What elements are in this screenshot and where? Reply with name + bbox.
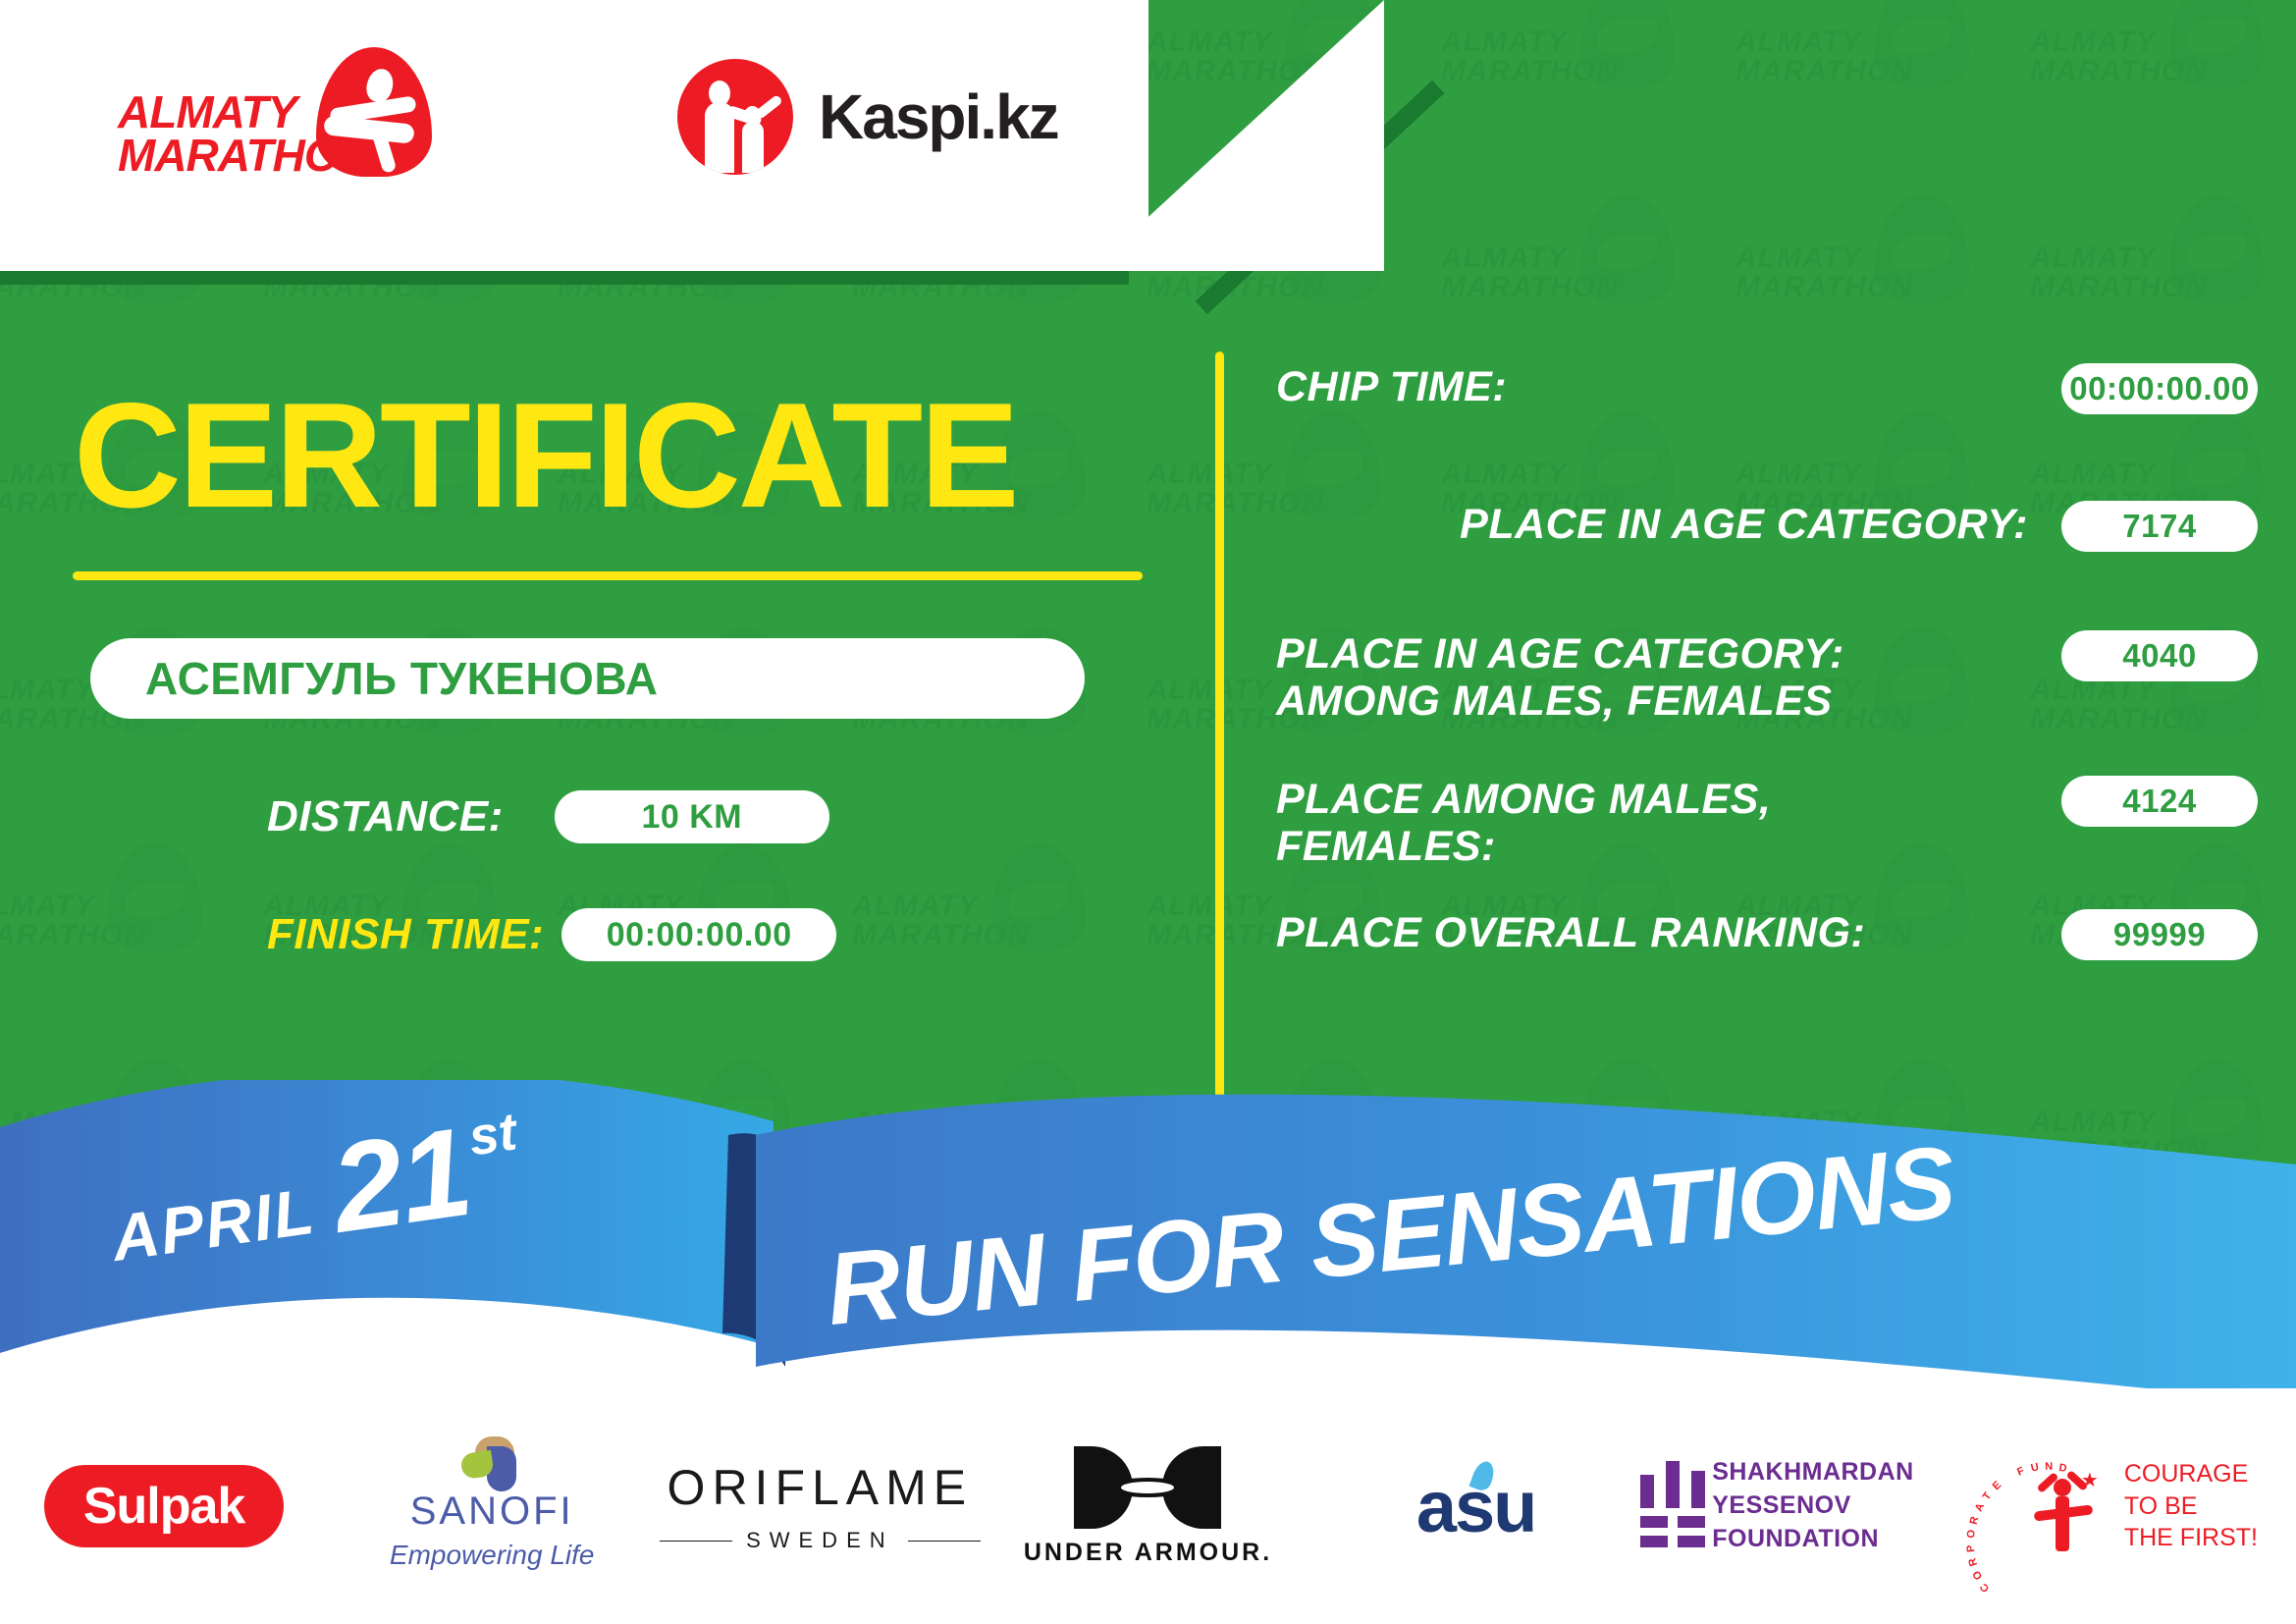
courage-figure-icon: CORPORATE FUND ★ xyxy=(2006,1453,2109,1559)
finish-time-label: FINISH TIME: xyxy=(267,910,544,959)
sponsor-sanofi: SANOFI Empowering Life xyxy=(328,1428,656,1585)
almaty-line: ALMATY xyxy=(118,90,310,134)
certificate-title: CERTIFICATE xyxy=(74,381,1017,530)
courage-head xyxy=(2054,1479,2071,1496)
sponsor-asu: asu xyxy=(1312,1428,1640,1585)
under-armour-wordmark: UNDER ARMOUR. xyxy=(1024,1539,1272,1567)
kaspi-adult-body xyxy=(705,102,734,173)
sponsor-under-armour: UNDER ARMOUR. xyxy=(984,1428,1311,1585)
watermark-tile: ALMATYMARATHON xyxy=(2022,1041,2296,1188)
place-among-gender-label: PLACE AMONG MALES, FEMALES: xyxy=(1276,776,2028,870)
sanofi-mark-icon xyxy=(457,1436,526,1491)
label-line-1: PLACE AMONG MALES, xyxy=(1276,776,2028,823)
arc-letter: C xyxy=(1978,1581,1992,1595)
watermark-line-2: MARATHON xyxy=(2030,1135,2208,1168)
courage-arc-text: CORPORATE FUND xyxy=(2006,1461,2089,1543)
sponsor-sulpak: Sulpak xyxy=(0,1428,328,1585)
kaspi-logo: Kaspi.kz xyxy=(677,59,1058,175)
ym-bar-5 xyxy=(1678,1516,1705,1528)
courage-logo: CORPORATE FUND ★ COURAGE TO BE THE FIRST… xyxy=(2006,1453,2258,1559)
courage-wordmark: COURAGE TO BE THE FIRST! xyxy=(2124,1458,2258,1554)
place-age-category-label: PLACE IN AGE CATEGORY: xyxy=(1276,501,2028,548)
watermark-tile: ALMATYMARATHON xyxy=(1728,177,2022,393)
ym-bar-3 xyxy=(1691,1471,1705,1508)
almaty-marathon-logo: ALMATY MARATHON xyxy=(118,47,432,194)
sanofi-wordmark: SANOFI xyxy=(390,1489,595,1534)
sponsor-yessenov: SHAKHMARDAN YESSENOV FOUNDATION xyxy=(1640,1428,1968,1585)
arc-letter: O xyxy=(1965,1530,1978,1539)
participant-name-field: АСЕМГУЛЬ ТУКЕНОВА xyxy=(90,638,1085,719)
courage-line-1: COURAGE xyxy=(2124,1458,2258,1490)
yessenov-logo: SHAKHMARDAN YESSENOV FOUNDATION xyxy=(1640,1456,1968,1555)
distance-row: DISTANCE: 10 KM xyxy=(267,790,829,843)
ym-bar-6 xyxy=(1640,1536,1668,1547)
oriflame-logo: ORIFLAME SWEDEN xyxy=(660,1459,981,1553)
watermark-line-1: ALMATY xyxy=(1735,26,1862,59)
watermark-line-1: ALMATY xyxy=(1441,458,1568,491)
almaty-marathon-wordmark: ALMATY MARATHON xyxy=(118,90,310,177)
star-icon: ★ xyxy=(2081,1471,2099,1490)
sanofi-logo: SANOFI Empowering Life xyxy=(390,1442,595,1571)
oriflame-wordmark: ORIFLAME xyxy=(660,1459,981,1516)
place-among-gender-row: PLACE AMONG MALES, FEMALES: 4124 xyxy=(1276,776,2258,870)
yessenov-line-2: FOUNDATION xyxy=(1712,1523,1968,1556)
arc-letter: R xyxy=(1966,1556,1980,1567)
place-age-category-row: PLACE IN AGE CATEGORY: 7174 xyxy=(1276,501,2258,552)
distance-label: DISTANCE: xyxy=(267,792,504,841)
ym-bar-7 xyxy=(1678,1536,1705,1547)
place-overall-ranking-row: PLACE OVERALL RANKING: 99999 xyxy=(1276,909,2258,960)
label-line-1: PLACE IN AGE CATEGORY: xyxy=(1276,630,2028,677)
ym-bar-4 xyxy=(1640,1516,1668,1528)
sponsor-courage: CORPORATE FUND ★ COURAGE TO BE THE FIRST… xyxy=(1968,1428,2296,1585)
asu-logo: asu xyxy=(1416,1465,1536,1548)
marathon-line: MARATHON xyxy=(118,134,310,177)
kaspi-people-icon xyxy=(677,59,793,175)
watermark-tile: ALMATYMARATHON xyxy=(1433,0,1728,177)
watermark-line-1: ALMATY xyxy=(2030,458,2157,491)
kaspi-child-body xyxy=(742,122,764,173)
watermark-tile: ALMATYMARATHON xyxy=(1139,1041,1433,1188)
chip-time-value: 00:00:00.00 xyxy=(2061,363,2258,414)
arc-letter: P xyxy=(1965,1544,1978,1553)
participant-name-value: АСЕМГУЛЬ ТУКЕНОВА xyxy=(145,652,658,705)
certificate-page: ALMATYMARATHONALMATYMARATHONALMATYMARATH… xyxy=(0,0,2296,1624)
arc-letter: N xyxy=(2045,1461,2053,1473)
event-day-suffix: st xyxy=(465,1101,520,1167)
watermark-line-2: MARATHON xyxy=(2030,271,2208,304)
ua-center-hole xyxy=(1121,1482,1174,1493)
arc-letter: R xyxy=(1968,1515,1982,1526)
chip-time-label: CHIP TIME: xyxy=(1276,363,2028,410)
place-among-gender-value: 4124 xyxy=(2061,776,2258,827)
yessenov-wordmark: SHAKHMARDAN YESSENOV FOUNDATION xyxy=(1712,1456,1968,1555)
watermark-line-1: ALMATY xyxy=(1441,1106,1568,1139)
watermark-line-1: ALMATY xyxy=(1735,242,1862,275)
arc-letter: F xyxy=(2015,1465,2026,1479)
watermark-tile: ALMATYMARATHON xyxy=(2022,177,2296,393)
under-armour-icon xyxy=(1074,1446,1221,1529)
kaspi-wordmark: Kaspi.kz xyxy=(819,81,1058,153)
event-day: 21 xyxy=(326,1119,475,1244)
place-overall-ranking-value: 99999 xyxy=(2061,909,2258,960)
distance-value: 10 KM xyxy=(555,790,829,843)
courage-line-3: THE FIRST! xyxy=(2124,1522,2258,1554)
ym-bar-1 xyxy=(1640,1475,1654,1508)
watermark-line-1: ALMATY xyxy=(1147,458,1273,491)
watermark-line-1: ALMATY xyxy=(1441,26,1568,59)
sponsor-oriflame: ORIFLAME SWEDEN xyxy=(656,1428,984,1585)
watermark-line-2: MARATHON xyxy=(1441,271,1619,304)
watermark-line-2: MARATHON xyxy=(1147,1135,1324,1168)
arc-letter: T xyxy=(1980,1490,1994,1502)
label-line-2: AMONG MALES, FEMALES xyxy=(1276,677,2028,725)
arc-letter: A xyxy=(1973,1501,1987,1513)
yessenov-line-1: SHAKHMARDAN YESSENOV xyxy=(1712,1456,1968,1523)
watermark-line-2: MARATHON xyxy=(2030,55,2208,88)
arc-letter: O xyxy=(1970,1569,1985,1582)
sulpak-logo: Sulpak xyxy=(44,1465,285,1547)
watermark-line-2: MARATHON xyxy=(1735,271,1913,304)
oriflame-sub: SWEDEN xyxy=(660,1528,981,1553)
place-overall-ranking-label: PLACE OVERALL RANKING: xyxy=(1276,909,2028,956)
watermark-line-1: ALMATY xyxy=(1147,1106,1273,1139)
sponsor-bar: Sulpak SANOFI Empowering Life ORIFLAME S… xyxy=(0,1388,2296,1624)
place-age-category-value: 7174 xyxy=(2061,501,2258,552)
watermark-line-2: MARATHON xyxy=(1735,55,1913,88)
oriflame-sub-text: SWEDEN xyxy=(746,1528,894,1553)
watermark-line-2: MARATHON xyxy=(1441,55,1619,88)
watermark-line-1: ALMATY xyxy=(1147,890,1273,923)
event-month: APRIL xyxy=(107,1173,320,1275)
finish-time-value: 00:00:00.00 xyxy=(561,908,836,961)
sanofi-tagline: Empowering Life xyxy=(390,1540,595,1571)
watermark-line-1: ALMATY xyxy=(1441,242,1568,275)
watermark-line-1: ALMATY xyxy=(2030,242,2157,275)
watermark-line-1: ALMATY xyxy=(2030,26,2157,59)
chip-time-row: CHIP TIME: 00:00:00.00 xyxy=(1276,363,2258,414)
label-line-2: FEMALES: xyxy=(1276,823,2028,870)
arc-letter: E xyxy=(1991,1479,2004,1492)
watermark-tile: ALMATYMARATHON xyxy=(2022,0,2296,177)
place-age-category-gender-row: PLACE IN AGE CATEGORY: AMONG MALES, FEMA… xyxy=(1276,630,2258,725)
yessenov-mark-icon xyxy=(1640,1461,1691,1551)
watermark-line-1: ALMATY xyxy=(1735,458,1862,491)
arc-letter: U xyxy=(2030,1461,2040,1474)
watermark-tile: ALMATYMARATHON xyxy=(1433,177,1728,393)
title-underline-rule xyxy=(73,571,1143,580)
watermark-line-1: ALMATY xyxy=(1147,674,1273,707)
arc-letter: D xyxy=(2058,1462,2068,1475)
place-age-category-gender-value: 4040 xyxy=(2061,630,2258,681)
watermark-line-1: ALMATY xyxy=(2030,1106,2157,1139)
under-armour-logo: UNDER ARMOUR. xyxy=(1024,1446,1272,1567)
ym-bar-2 xyxy=(1666,1461,1680,1508)
courage-body xyxy=(2056,1496,2069,1551)
watermark-tile: ALMATYMARATHON xyxy=(1728,0,2022,177)
place-age-category-gender-label: PLACE IN AGE CATEGORY: AMONG MALES, FEMA… xyxy=(1276,630,2028,725)
column-divider xyxy=(1215,352,1224,1098)
courage-line-2: TO BE xyxy=(2124,1490,2258,1523)
finish-time-row: FINISH TIME: 00:00:00.00 xyxy=(267,908,836,961)
header-logos: ALMATY MARATHON Kaspi.kz xyxy=(0,0,1148,271)
